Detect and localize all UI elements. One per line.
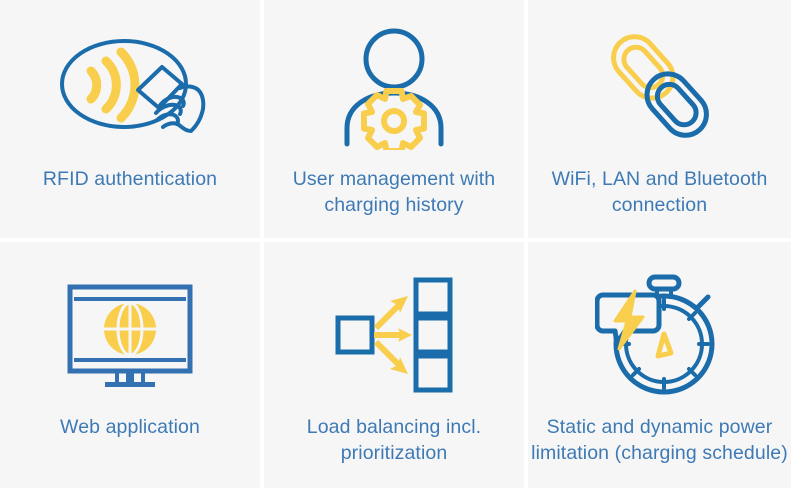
tile-web-application[interactable]: Web application	[0, 242, 260, 488]
chain-link-icon	[528, 22, 791, 150]
rfid-hand-card-icon	[0, 22, 260, 150]
tile-label: RFID authentication	[10, 166, 249, 192]
tile-power-limitation[interactable]: Static and dynamic power limitation (cha…	[528, 242, 791, 488]
tile-connectivity[interactable]: WiFi, LAN and Bluetooth connection	[528, 0, 791, 238]
tile-label: Load balancing incl. prioritization	[274, 414, 513, 466]
tile-load-balancing[interactable]: Load balancing incl. prioritization	[264, 242, 524, 488]
load-balancing-arrows-icon	[264, 272, 524, 398]
tile-rfid-authentication[interactable]: RFID authentication	[0, 0, 260, 238]
user-gear-icon	[264, 22, 524, 150]
tile-user-management[interactable]: User management with charging history	[264, 0, 524, 238]
tile-label: WiFi, LAN and Bluetooth connection	[539, 166, 781, 218]
tile-label: User management with charging history	[274, 166, 513, 218]
monitor-globe-icon	[0, 272, 260, 398]
feature-tile-grid: RFID authentication User management with…	[0, 0, 791, 484]
stopwatch-bolt-icon	[528, 272, 791, 398]
tile-label: Static and dynamic power limitation (cha…	[529, 414, 789, 466]
tile-label: Web application	[10, 414, 249, 440]
